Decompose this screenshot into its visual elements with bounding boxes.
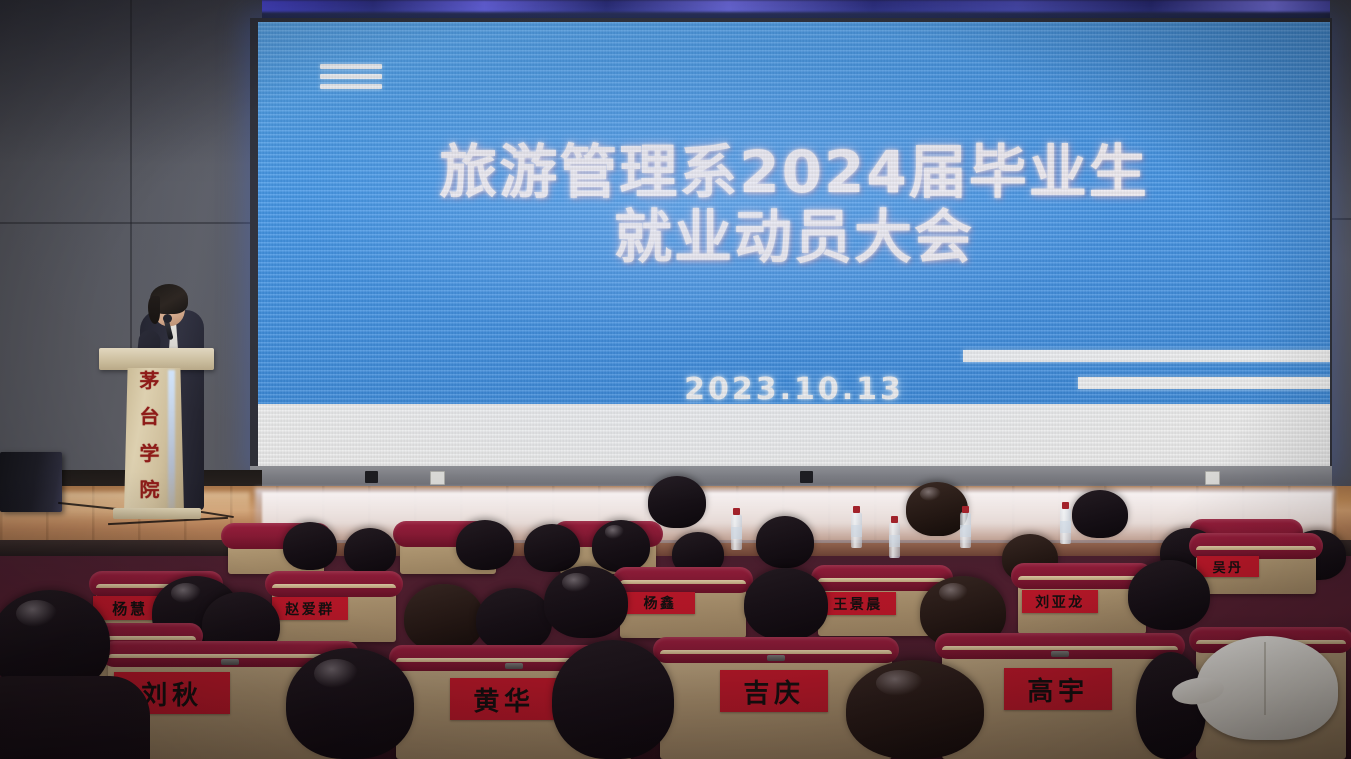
right-wall xyxy=(1330,0,1351,520)
wall-outlet xyxy=(1205,471,1220,485)
audience-head xyxy=(1072,490,1128,538)
podium-logo-char-4: 院 xyxy=(140,481,160,500)
water-bottle xyxy=(731,514,742,550)
wall-outlet xyxy=(365,471,378,483)
seat-nametag-text: 王景晨 xyxy=(833,594,883,614)
slide-deco-bar-right-1 xyxy=(963,350,1330,362)
audience-head xyxy=(744,568,828,640)
seat-nametag: 高宇 xyxy=(1004,668,1112,710)
floor-monitor-speaker xyxy=(0,452,62,512)
seat-trim xyxy=(660,650,892,654)
seat-hinge xyxy=(767,655,785,661)
speaker-hair-side xyxy=(148,296,160,324)
seat-nametag-text: 刘亚龙 xyxy=(1035,592,1085,612)
seat-trim xyxy=(272,584,396,588)
audience-head xyxy=(906,482,968,536)
seat-nametag-text: 高宇 xyxy=(1027,671,1088,708)
audience-head xyxy=(286,648,414,759)
seat-nametag: 赵爱群 xyxy=(272,597,348,620)
seat-nametag: 刘亚龙 xyxy=(1022,590,1098,613)
water-bottle xyxy=(889,522,900,558)
podium-light-strip xyxy=(168,370,175,510)
led-screen: 旅游管理系2024届毕业生 就业动员大会 2023.10.13 xyxy=(258,22,1330,466)
wall-seam xyxy=(0,222,262,224)
seat-trim xyxy=(1196,546,1316,550)
seat-trim xyxy=(1018,576,1146,580)
water-bottle xyxy=(851,512,862,548)
podium-logo-char-3: 学 xyxy=(140,445,160,464)
slide-title-line-1: 旅游管理系2024届毕业生 xyxy=(258,140,1330,205)
audience-head xyxy=(404,584,484,652)
podium-logo-char-1: 茅 xyxy=(140,372,160,391)
podium-logo-char-2: 台 xyxy=(140,408,160,427)
seat-nametag: 杨鑫 xyxy=(625,592,695,614)
wall-outlet xyxy=(430,471,445,485)
seat-nametag-text: 黄华 xyxy=(473,681,534,718)
audience-head xyxy=(648,476,706,528)
audience-head xyxy=(456,520,514,570)
audience-head xyxy=(1136,652,1206,759)
seat-nametag-text: 吴丹 xyxy=(1213,557,1244,576)
audience-head xyxy=(476,588,552,652)
seat-nametag: 吴丹 xyxy=(1197,556,1259,577)
seat-nametag-text: 吉庆 xyxy=(743,673,804,710)
wall-seam xyxy=(1330,218,1351,220)
seat-nametag-text: 杨鑫 xyxy=(643,593,676,613)
cap-seam xyxy=(1264,642,1266,715)
photo-scene: 旅游管理系2024届毕业生 就业动员大会 2023.10.13 茅 xyxy=(0,0,1351,759)
audience-head xyxy=(524,524,580,572)
slide-deco-bar-right-2 xyxy=(1078,377,1330,389)
seat-nametag-text: 刘秋 xyxy=(141,675,202,712)
podium-base xyxy=(113,508,201,519)
slide-white-band xyxy=(258,404,1330,466)
audience-head xyxy=(552,640,674,759)
podium-institution-logo: 茅 台 学 院 xyxy=(137,372,163,500)
audience-head xyxy=(846,660,984,759)
seat-nametag: 黄华 xyxy=(450,678,558,720)
water-bottle xyxy=(1060,508,1071,544)
slide-deco-bars-top-left xyxy=(320,64,382,94)
audience-head xyxy=(344,528,396,574)
seat-hinge xyxy=(1051,651,1069,657)
water-bottle xyxy=(960,512,971,548)
slide-title-line-2: 就业动员大会 xyxy=(258,205,1330,270)
seat-hinge xyxy=(505,663,523,669)
seat-nametag: 王景晨 xyxy=(820,592,896,615)
seat-trim xyxy=(942,646,1178,650)
slide-title: 旅游管理系2024届毕业生 就业动员大会 xyxy=(258,140,1330,270)
podium-top xyxy=(99,348,214,370)
seat-hinge xyxy=(221,659,239,665)
audience-head xyxy=(756,516,814,568)
seat-trim xyxy=(620,580,746,584)
audience-shoulders xyxy=(0,676,150,759)
seat-nametag-text: 杨慧 xyxy=(112,598,147,619)
seat-trim xyxy=(818,578,946,582)
audience-head xyxy=(1128,560,1210,630)
seat-nametag-text: 赵爱群 xyxy=(285,599,335,619)
audience-head xyxy=(544,566,628,638)
microphone-head xyxy=(163,314,172,323)
stage-baseboard xyxy=(250,466,1332,488)
wall-outlet xyxy=(800,471,813,483)
audience-cap xyxy=(1196,636,1338,740)
seat-nametag: 吉庆 xyxy=(720,670,828,712)
ceiling-led-glow xyxy=(240,0,1351,12)
audience-head xyxy=(592,520,650,572)
audience-head xyxy=(283,522,337,570)
